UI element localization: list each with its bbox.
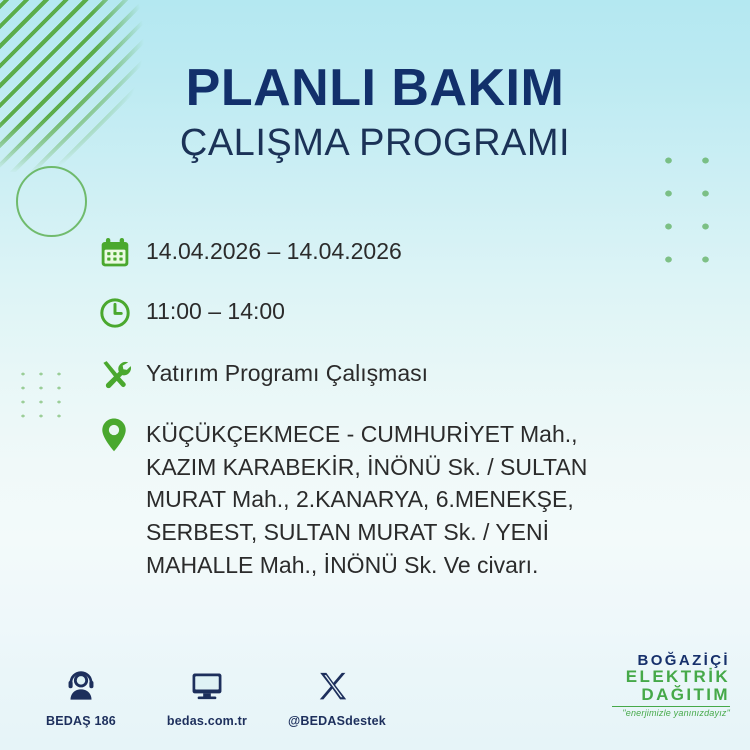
detail-row-time: 11:00 – 14:00 <box>98 292 708 334</box>
page-subtitle: ÇALIŞMA PROGRAMI <box>0 124 750 164</box>
logo-tagline: "enerjimizle yanınızdayız" <box>612 708 730 718</box>
poster-header: PLANLI BAKIM ÇALIŞMA PROGRAMI <box>0 62 750 164</box>
location-pin-icon <box>98 414 146 456</box>
contact-website[interactable]: bedas.com.tr <box>162 664 252 728</box>
contact-social[interactable]: @BEDASdestek <box>288 664 378 728</box>
contact-social-label: @BEDASdestek <box>288 714 378 728</box>
support-agent-icon <box>36 664 126 708</box>
detail-row-date: 14.04.2026 – 14.04.2026 <box>98 232 708 274</box>
contact-list: BEDAŞ 186 bedas.com.tr <box>36 664 378 728</box>
time-range-text: 11:00 – 14:00 <box>146 292 285 327</box>
page-title: PLANLI BAKIM <box>0 62 750 114</box>
maintenance-details: 14.04.2026 – 14.04.2026 11:00 – 14:00 <box>98 232 708 595</box>
detail-row-address: KÜÇÜKÇEKMECE - CUMHURİYET Mah., KAZIM KA… <box>98 414 708 581</box>
date-range-text: 14.04.2026 – 14.04.2026 <box>146 232 402 267</box>
logo-line-bogazici: BOĞAZİÇİ <box>612 653 730 669</box>
planned-maintenance-poster: PLANLI BAKIM ÇALIŞMA PROGRAMI <box>0 0 750 750</box>
tools-icon <box>98 354 146 396</box>
logo-line-elektrik: ELEKTRİK <box>612 668 730 686</box>
x-twitter-icon <box>288 664 378 708</box>
detail-row-work-type: Yatırım Programı Çalışması <box>98 354 708 396</box>
contact-website-label: bedas.com.tr <box>162 714 252 728</box>
dot-grid-decoration-left <box>12 365 72 425</box>
calendar-icon <box>98 232 146 274</box>
address-text: KÜÇÜKÇEKMECE - CUMHURİYET Mah., KAZIM KA… <box>146 414 616 581</box>
logo-line-dagitim: DAĞITIM <box>612 686 730 704</box>
contact-phone-label: BEDAŞ 186 <box>36 714 126 728</box>
poster-footer: BEDAŞ 186 bedas.com.tr <box>0 640 750 732</box>
clock-icon <box>98 292 146 334</box>
work-type-text: Yatırım Programı Çalışması <box>146 354 428 389</box>
bedas-logo: BOĞAZİÇİ ELEKTRİK DAĞITIM "enerjimizle y… <box>612 653 730 718</box>
logo-divider <box>612 706 730 708</box>
contact-phone[interactable]: BEDAŞ 186 <box>36 664 126 728</box>
circle-outline-decoration <box>16 166 87 237</box>
monitor-icon <box>162 664 252 708</box>
